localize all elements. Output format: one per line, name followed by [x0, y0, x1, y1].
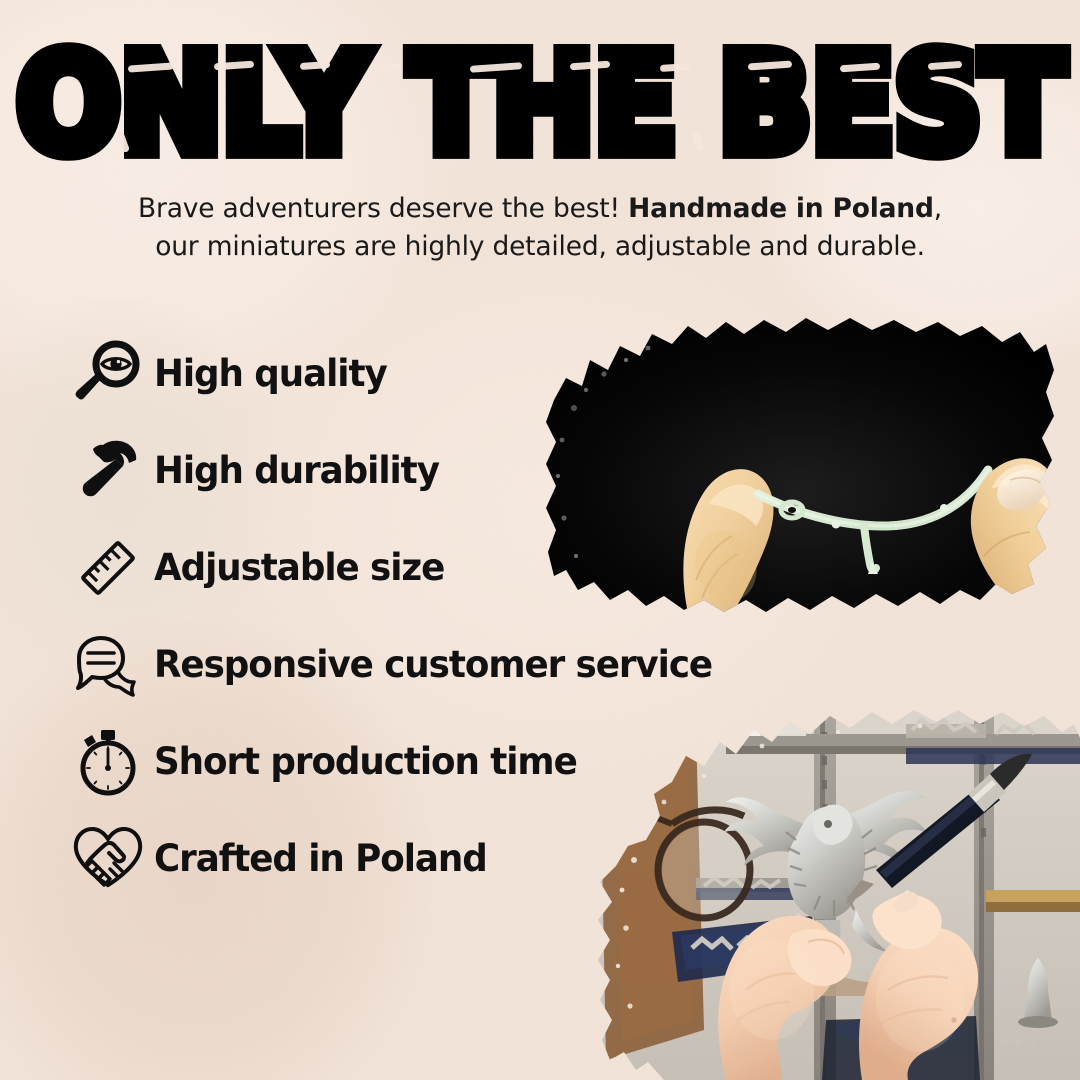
feature-label: Responsive customer service: [154, 643, 712, 686]
poster-canvas: ONLY THE BEST Brave adventurers deserve …: [0, 0, 1080, 1080]
feature-label: Crafted in Poland: [154, 837, 487, 880]
ruler-icon: [62, 526, 154, 610]
page-title: ONLY THE BEST: [0, 42, 1080, 168]
feature-item: Responsive customer service: [62, 616, 782, 713]
subtitle: Brave adventurers deserve the best! Hand…: [0, 190, 1080, 265]
feature-item: Adjustable size: [62, 519, 782, 616]
subtitle-line-2: our miniatures are highly detailed, adju…: [0, 228, 1080, 266]
chat-bubbles-icon: [62, 623, 154, 707]
feature-label: High durability: [154, 449, 439, 492]
subtitle-lead: Brave adventurers deserve the best!: [138, 193, 628, 224]
feature-label: Short production time: [154, 740, 577, 783]
feature-list: High quality High durability: [62, 325, 782, 907]
stopwatch-icon: [62, 720, 154, 804]
feature-label: High quality: [154, 352, 387, 395]
feature-item: Short production time: [62, 713, 782, 810]
handshake-heart-icon: [62, 817, 154, 901]
feature-item: High durability: [62, 422, 782, 519]
magnifier-eye-icon: [62, 332, 154, 416]
feature-item: Crafted in Poland: [62, 810, 782, 907]
feature-label: Adjustable size: [154, 546, 444, 589]
feature-item: High quality: [62, 325, 782, 422]
subtitle-emphasis: Handmade in Poland: [628, 193, 934, 224]
subtitle-tail: ,: [934, 193, 942, 224]
hammer-icon: [62, 429, 154, 513]
page-title-text: ONLY THE BEST: [16, 36, 1064, 175]
subtitle-line-1: Brave adventurers deserve the best! Hand…: [0, 190, 1080, 228]
right-fingertip: [971, 458, 1060, 622]
